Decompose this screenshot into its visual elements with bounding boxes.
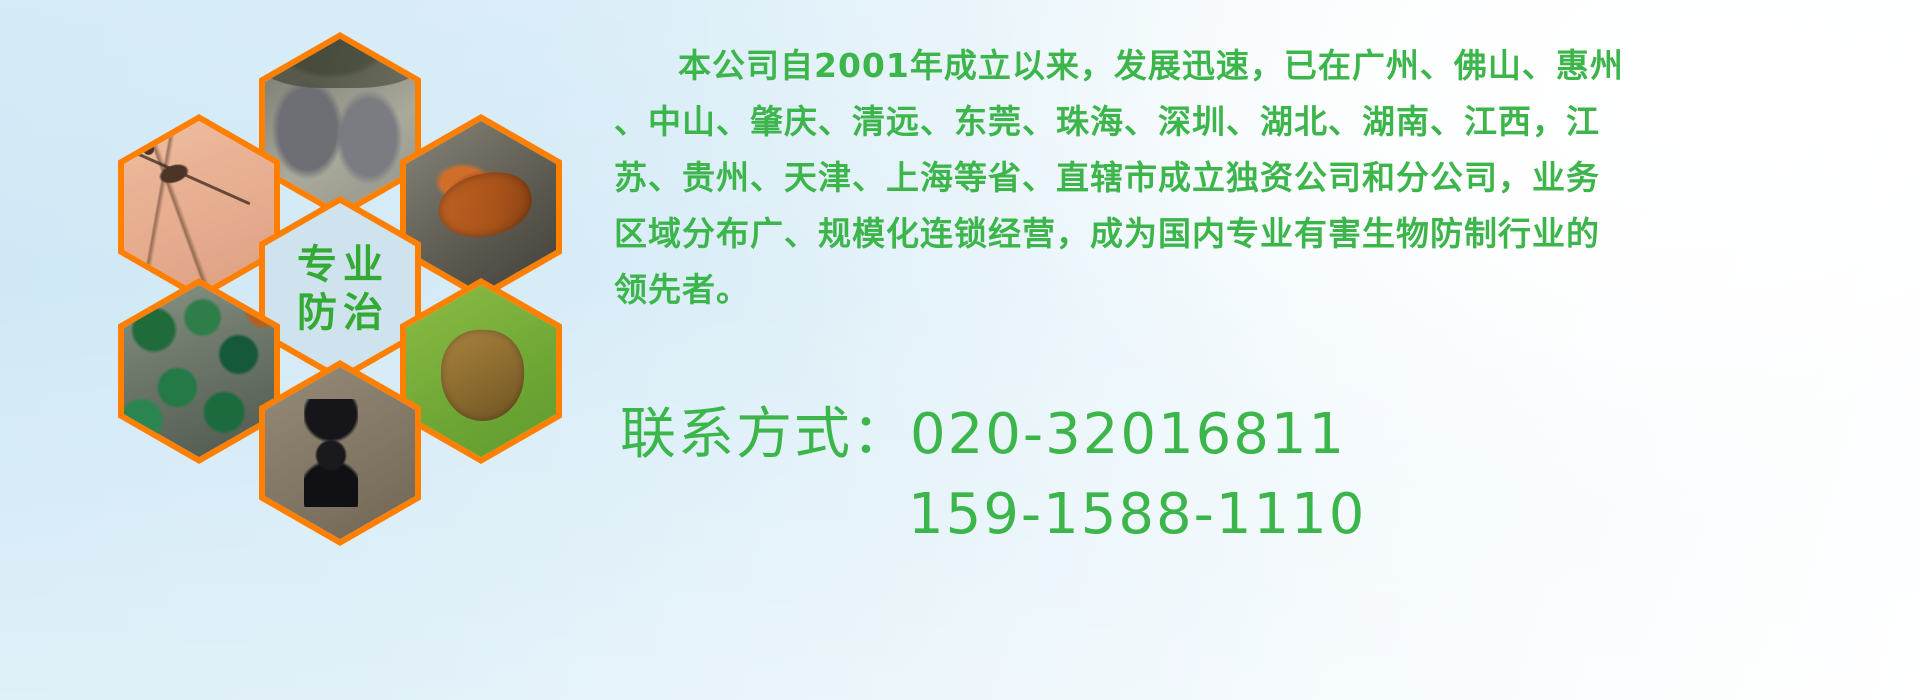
hex-logo-tile: 专业 防治: [259, 196, 421, 382]
logo-text-line1: 专业: [291, 244, 389, 286]
mosquito-image: [124, 121, 274, 293]
hex-photo-cockroach: [400, 114, 562, 300]
logo-text: 专业 防治: [265, 203, 415, 375]
logo-text-line2: 防治: [291, 292, 389, 334]
cockroach-image: [406, 121, 556, 293]
description-line-1: 本公司自2001年成立以来，发展迅速，已在广州、佛山、惠州: [614, 38, 1910, 94]
hex-photo-mosquito-frame: [124, 121, 274, 293]
fly-image: [124, 285, 274, 457]
hex-logo-frame: 专业 防治: [265, 203, 415, 375]
description-line-5: 领先者。: [614, 262, 1910, 318]
honeycomb-cluster: 专业 防治: [96, 10, 576, 555]
hex-photo-cockroach-frame: [406, 121, 556, 293]
promo-banner: 专业 防治 本公司自2001年成立以来，发展迅速，已在广州、佛山、惠州 、中山、…: [0, 0, 1920, 700]
hex-photo-rat: [259, 32, 421, 218]
contact-label: 联系方式：: [620, 402, 910, 467]
contact-primary-line: 联系方式：020-32016811: [620, 400, 1720, 470]
hex-photo-rat-frame: [265, 39, 415, 211]
hex-photo-stinkbug-frame: [406, 285, 556, 457]
hex-photo-stinkbug: [400, 278, 562, 464]
rat-image: [265, 39, 415, 211]
hex-photo-fly-frame: [124, 285, 274, 457]
hex-photo-ant-frame: [265, 367, 415, 539]
contact-block: 联系方式：020-32016811 159-1588-1110: [620, 400, 1720, 550]
company-description: 本公司自2001年成立以来，发展迅速，已在广州、佛山、惠州 、中山、肇庆、清远、…: [614, 38, 1910, 318]
contact-phone-primary[interactable]: 020-32016811: [910, 402, 1346, 467]
description-line-4: 区域分布广、规模化连锁经营，成为国内专业有害生物防制行业的: [614, 206, 1910, 262]
hex-photo-fly: [118, 278, 280, 464]
hex-photo-ant: [259, 360, 421, 546]
contact-phone-secondary[interactable]: 159-1588-1110: [620, 480, 1720, 550]
hex-photo-mosquito: [118, 114, 280, 300]
ant-image: [265, 367, 415, 539]
description-line-3: 苏、贵州、天津、上海等省、直辖市成立独资公司和分公司，业务: [614, 150, 1910, 206]
description-line-2: 、中山、肇庆、清远、东莞、珠海、深圳、湖北、湖南、江西，江: [614, 94, 1910, 150]
stinkbug-image: [406, 285, 556, 457]
